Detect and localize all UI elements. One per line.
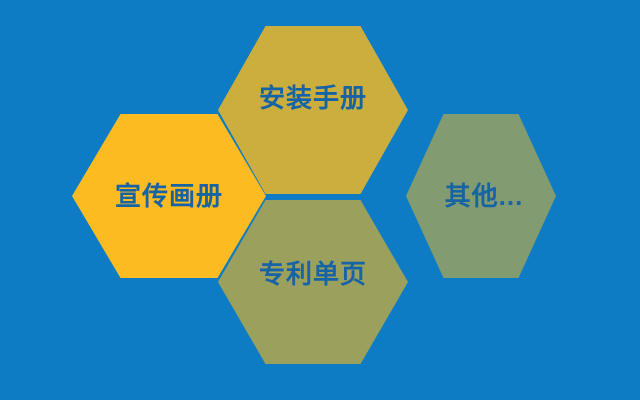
hex-node-manual-label: 安装手册 [259,85,367,111]
hex-node-other[interactable]: 其他... [406,114,556,278]
diagram-canvas: 宣传画册 安装手册 专利单页 其他... [0,0,640,400]
hex-node-patent-label: 专利单页 [259,261,367,287]
hex-node-brochure-label: 宣传画册 [115,183,223,209]
hex-node-other-label: 其他... [439,183,524,209]
